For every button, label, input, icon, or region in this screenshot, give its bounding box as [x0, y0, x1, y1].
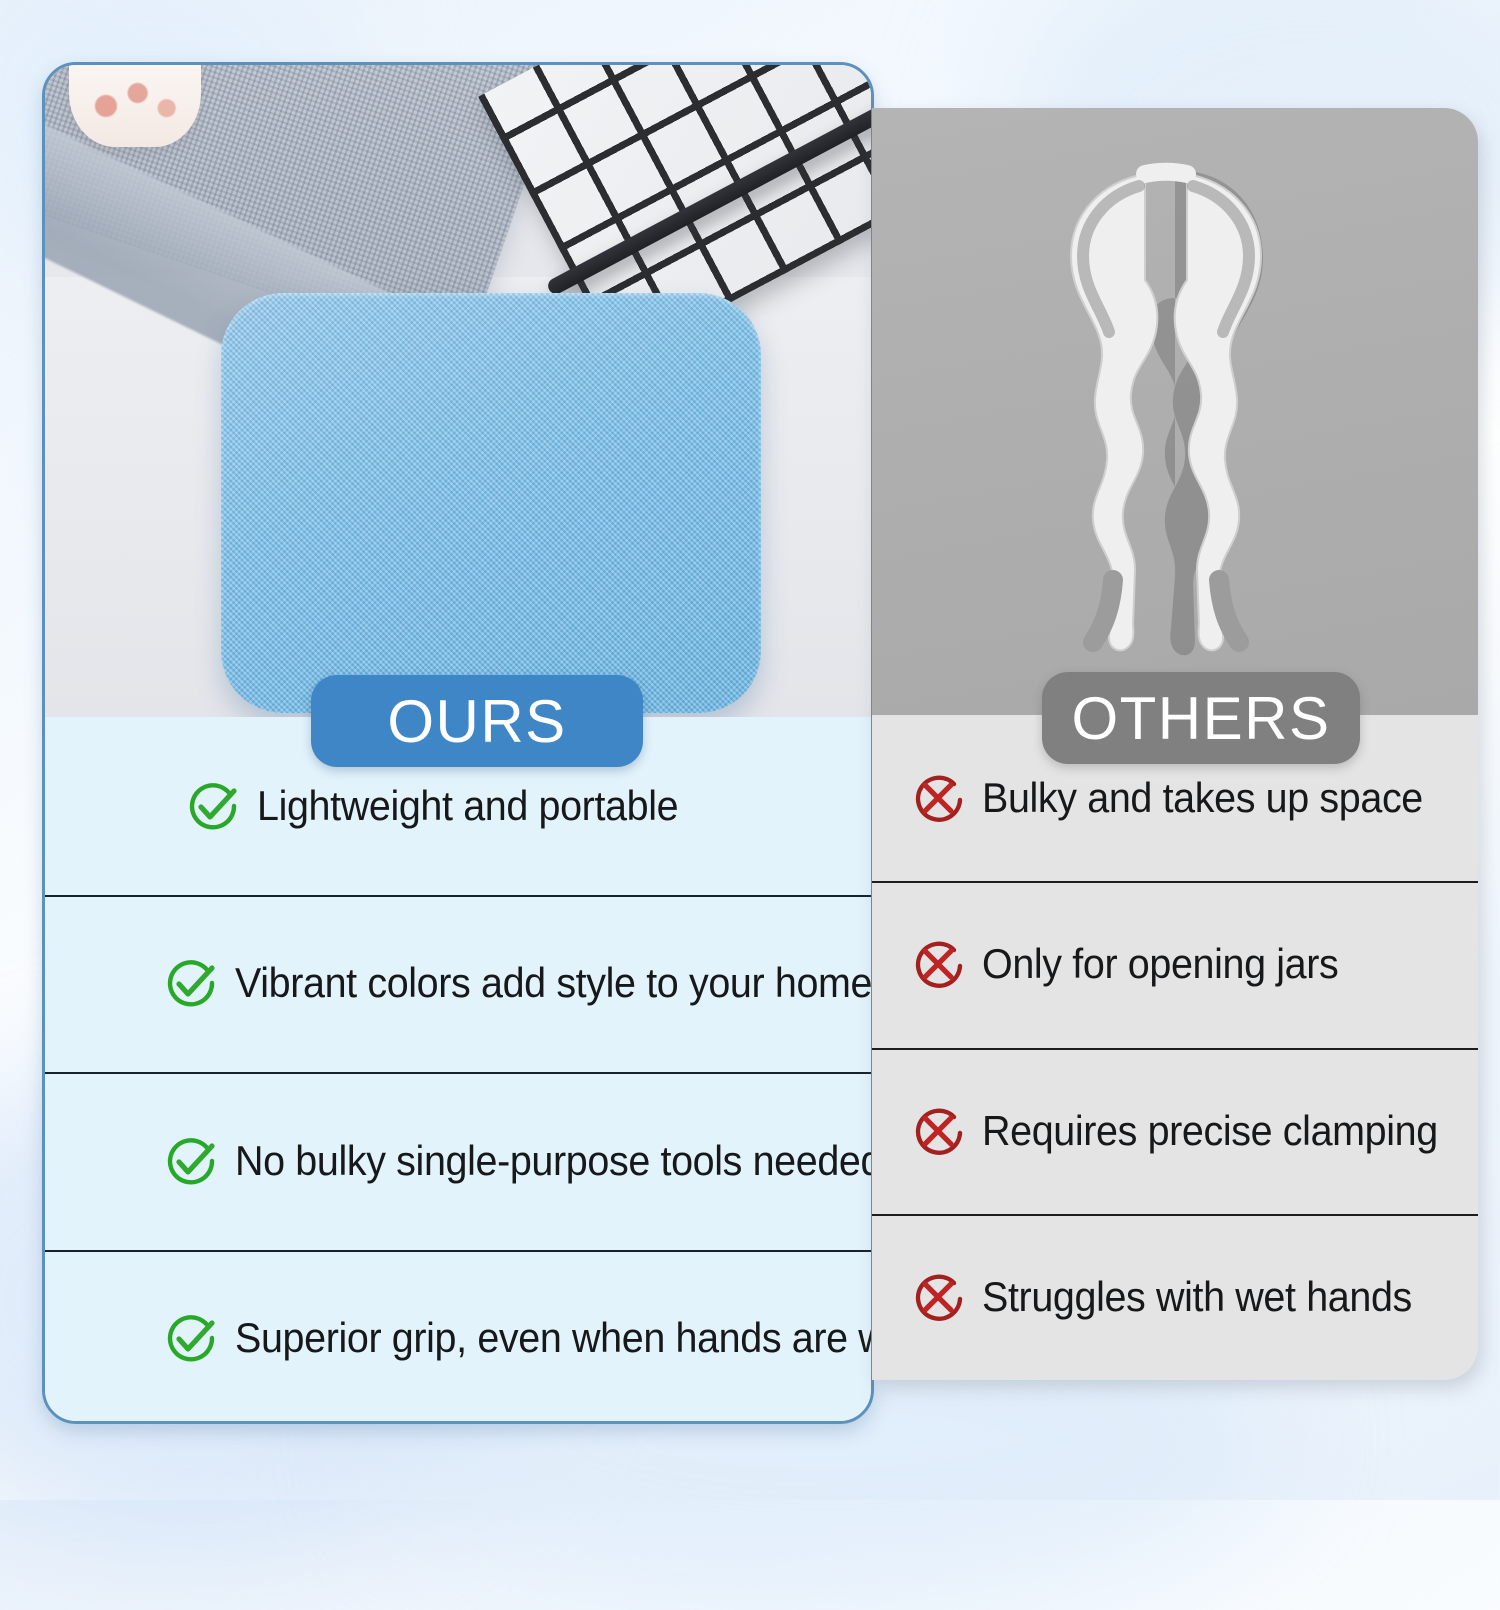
jar-opener-clamp — [1035, 156, 1315, 666]
comparison-card-others: OTHERS Bulky and takes up space Only for… — [872, 108, 1478, 1380]
cross-circle-icon — [910, 936, 966, 992]
list-item-label: Bulky and takes up space — [982, 775, 1423, 821]
check-circle-icon — [163, 1310, 219, 1366]
badge-others-label: OTHERS — [1071, 684, 1330, 753]
list-item-label: Superior grip, even when hands are wet — [235, 1315, 874, 1361]
list-item-label: Only for opening jars — [982, 941, 1338, 987]
check-circle-icon — [185, 778, 241, 834]
cross-circle-icon — [910, 1103, 966, 1159]
list-item-label: Lightweight and portable — [257, 783, 678, 829]
list-item-label: Vibrant colors add style to your home — [235, 960, 872, 1006]
blue-silicone-grip-mat — [221, 293, 761, 713]
ours-product-photo — [45, 65, 871, 717]
list-item: Struggles with wet hands — [872, 1214, 1478, 1380]
check-circle-icon — [163, 955, 219, 1011]
others-feature-list: Bulky and takes up space Only for openin… — [872, 715, 1478, 1380]
badge-ours-label: OURS — [387, 687, 566, 756]
list-item-label: Struggles with wet hands — [982, 1274, 1412, 1320]
list-item: Only for opening jars — [872, 881, 1478, 1047]
check-circle-icon — [163, 1133, 219, 1189]
list-item: Vibrant colors add style to your home — [45, 895, 871, 1073]
shell-ornament — [69, 65, 201, 147]
list-item: No bulky single-purpose tools needed — [45, 1072, 871, 1250]
badge-ours: OURS — [311, 675, 643, 767]
list-item: Requires precise clamping — [872, 1048, 1478, 1214]
comparison-card-ours: OURS Lightweight and portable Vibrant co… — [42, 62, 874, 1424]
list-item: Superior grip, even when hands are wet — [45, 1250, 871, 1425]
others-product-photo — [872, 108, 1478, 715]
list-item-label: No bulky single-purpose tools needed — [235, 1138, 874, 1184]
badge-others: OTHERS — [1042, 672, 1360, 764]
cross-circle-icon — [910, 770, 966, 826]
ours-feature-list: Lightweight and portable Vibrant colors … — [45, 717, 871, 1424]
cross-circle-icon — [910, 1269, 966, 1325]
list-item-label: Requires precise clamping — [982, 1108, 1438, 1154]
